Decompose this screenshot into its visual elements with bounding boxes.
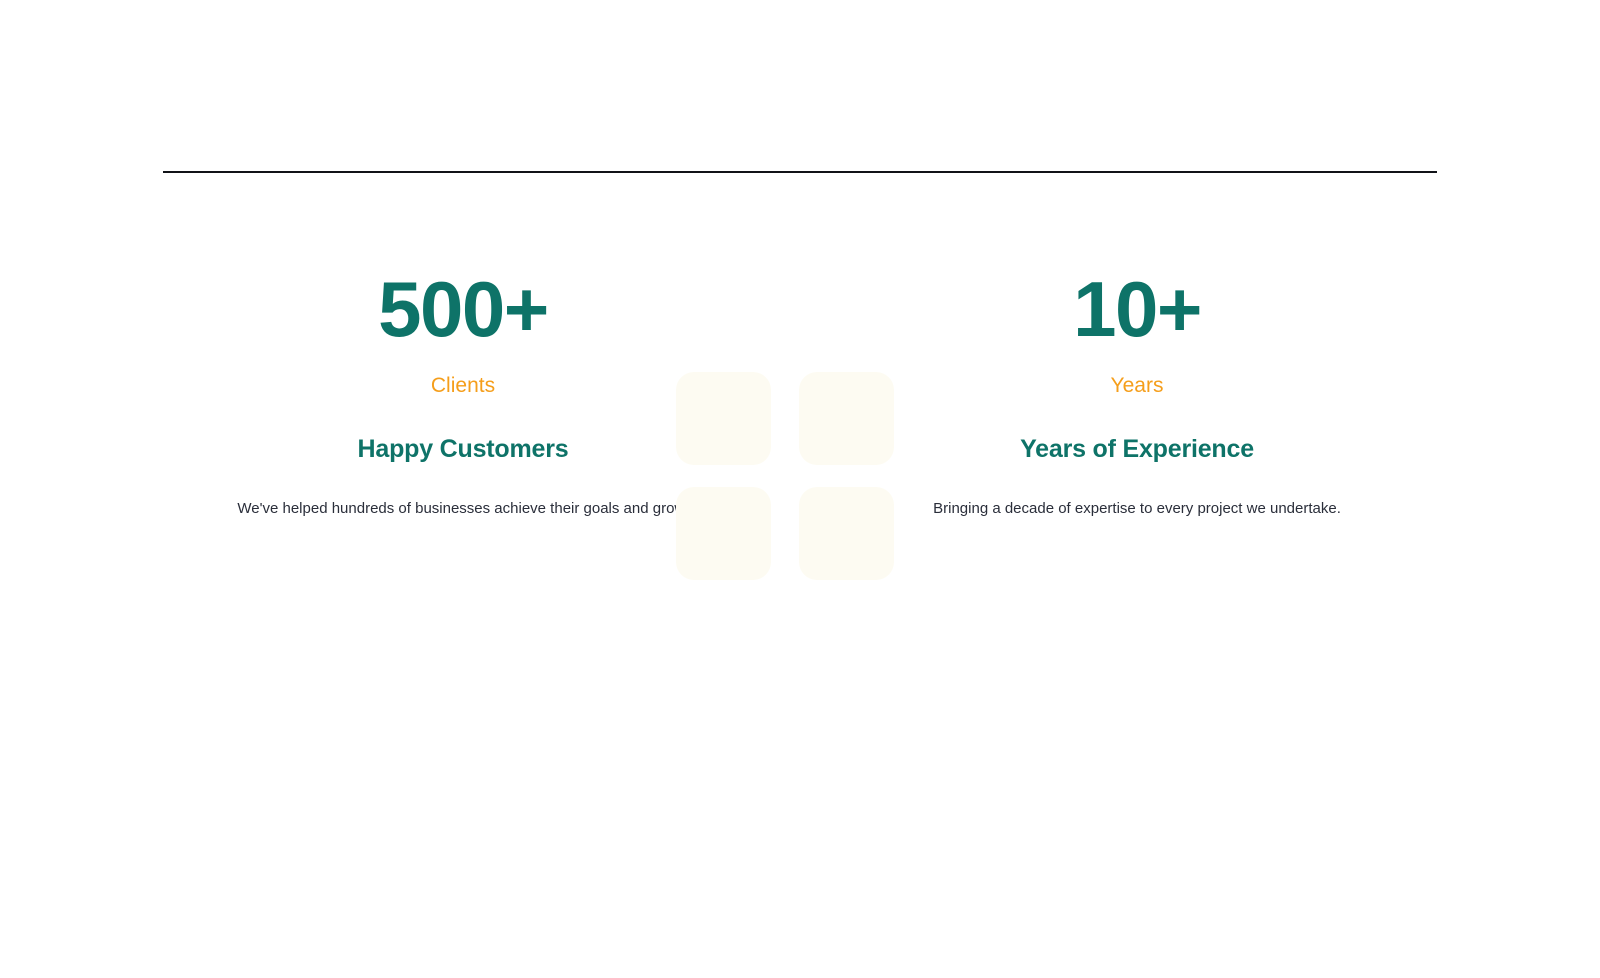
stat-title-clients: Happy Customers: [163, 398, 763, 464]
decorative-tile-3: [676, 487, 771, 580]
decorative-tile-2: [799, 372, 894, 465]
stat-description-experience: Bringing a decade of expertise to every …: [837, 464, 1437, 520]
stat-value-experience: 10+: [837, 260, 1437, 348]
decorative-tile-1: [676, 372, 771, 465]
stat-description-clients: We've helped hundreds of businesses achi…: [163, 464, 763, 520]
section-divider: [163, 171, 1437, 173]
stat-unit-clients: Clients: [163, 348, 763, 398]
decorative-tile-grid: [676, 372, 894, 580]
decorative-tile-4: [799, 487, 894, 580]
stat-unit-experience: Years: [837, 348, 1437, 398]
stats-section: 500+ Clients Happy Customers We've helpe…: [0, 0, 1600, 978]
stat-value-clients: 500+: [163, 260, 763, 348]
stat-card-clients: 500+ Clients Happy Customers We've helpe…: [163, 260, 763, 520]
stat-title-experience: Years of Experience: [837, 398, 1437, 464]
stat-card-experience: 10+ Years Years of Experience Bringing a…: [837, 260, 1437, 520]
